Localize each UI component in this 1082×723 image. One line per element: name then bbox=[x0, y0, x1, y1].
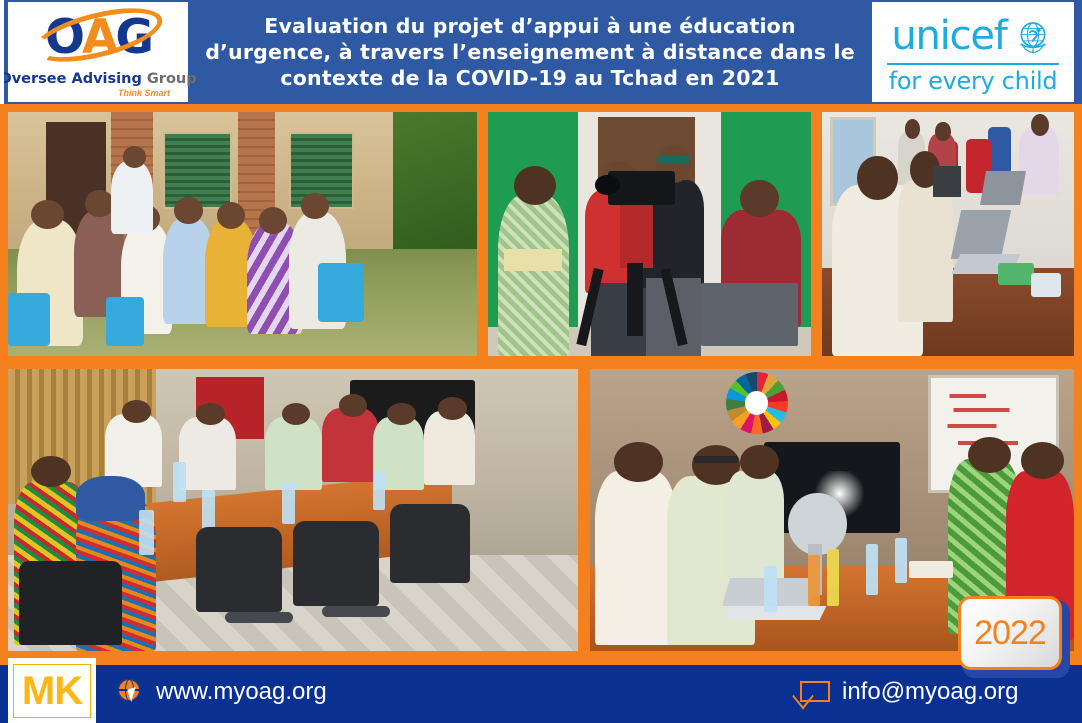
website-text: www.myoag.org bbox=[156, 678, 327, 706]
website-link[interactable]: www.myoag.org bbox=[118, 678, 327, 706]
unicef-wordmark-row: unicef bbox=[891, 12, 1054, 60]
poster: OAG Oversee Advising Group Think Smart E… bbox=[0, 0, 1082, 723]
mk-stamp-text: MK bbox=[22, 671, 82, 711]
header-left-edge bbox=[0, 0, 4, 104]
sdg-wheel-icon bbox=[726, 372, 788, 434]
mk-stamp-frame: MK bbox=[13, 664, 91, 718]
photo-3 bbox=[818, 108, 1078, 360]
year-badge: 2022 bbox=[958, 596, 1072, 680]
globe-icon bbox=[118, 679, 144, 705]
email-text: info@myoag.org bbox=[842, 678, 1018, 706]
un-emblem-icon bbox=[1011, 14, 1055, 58]
oag-logomark: OAG bbox=[18, 7, 178, 69]
oag-name-part1: Oversee Advising bbox=[0, 71, 142, 87]
poster-title: Evaluation du projet d’appui à une éduca… bbox=[198, 13, 862, 92]
oag-logo: OAG Oversee Advising Group Think Smart bbox=[8, 2, 188, 102]
gallery-row-bottom bbox=[0, 360, 1082, 660]
photo-gallery bbox=[0, 104, 1082, 660]
unicef-logo: unicef for every child bbox=[872, 2, 1074, 102]
mk-stamp: MK bbox=[8, 658, 96, 723]
photo-4 bbox=[4, 365, 582, 655]
year-badge-text: 2022 bbox=[974, 616, 1046, 650]
unicef-wordmark: unicef bbox=[891, 16, 1006, 56]
photo-1 bbox=[4, 108, 481, 360]
unicef-divider bbox=[887, 63, 1059, 65]
envelope-icon bbox=[800, 681, 830, 702]
footer-accent-rule bbox=[0, 660, 1082, 665]
year-badge-face: 2022 bbox=[958, 596, 1062, 670]
header-bar: OAG Oversee Advising Group Think Smart E… bbox=[0, 0, 1082, 104]
oag-letter-o: O bbox=[45, 14, 82, 61]
oag-letter-a: A bbox=[82, 14, 115, 61]
photo-2 bbox=[484, 108, 815, 360]
oag-company-name: Oversee Advising Group bbox=[0, 71, 197, 87]
oag-tagline: Think Smart bbox=[18, 88, 178, 98]
footer-bar: www.myoag.org info@myoag.org bbox=[0, 660, 1082, 723]
oag-letter-g: G bbox=[115, 14, 151, 61]
unicef-tagline: for every child bbox=[889, 69, 1058, 93]
oag-letters: OAG bbox=[18, 7, 178, 69]
gallery-row-top bbox=[0, 104, 1082, 360]
email-link[interactable]: info@myoag.org bbox=[800, 678, 1018, 706]
title-container: Evaluation du projet d’appui à une éduca… bbox=[188, 0, 872, 104]
